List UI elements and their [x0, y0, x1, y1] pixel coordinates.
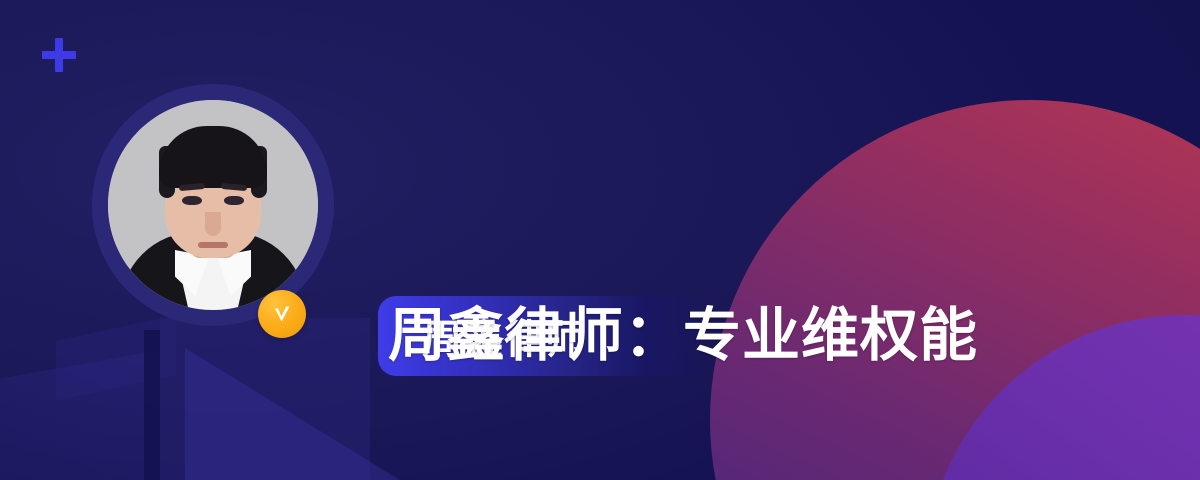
- avatar[interactable]: [92, 84, 334, 326]
- verified-badge-icon: [258, 290, 306, 338]
- geometric-shape-triangle: [185, 348, 400, 480]
- plus-icon: [42, 38, 76, 72]
- geometric-shape-band: [144, 330, 160, 480]
- avatar-photo: [108, 100, 318, 310]
- portrait-mouth: [198, 242, 228, 248]
- portrait-nose: [205, 212, 221, 236]
- profile-banner: 周鑫律师 周鑫律师：专业维权能 手，揭秘造谣传谣违法真 相: [0, 0, 1200, 480]
- headline-line-1: 周鑫律师：专业维权能: [388, 294, 1088, 378]
- page-title: 周鑫律师：专业维权能 手，揭秘造谣传谣违法真 相: [388, 126, 1088, 480]
- portrait-eye-left: [182, 196, 202, 205]
- portrait-eye-right: [224, 196, 244, 205]
